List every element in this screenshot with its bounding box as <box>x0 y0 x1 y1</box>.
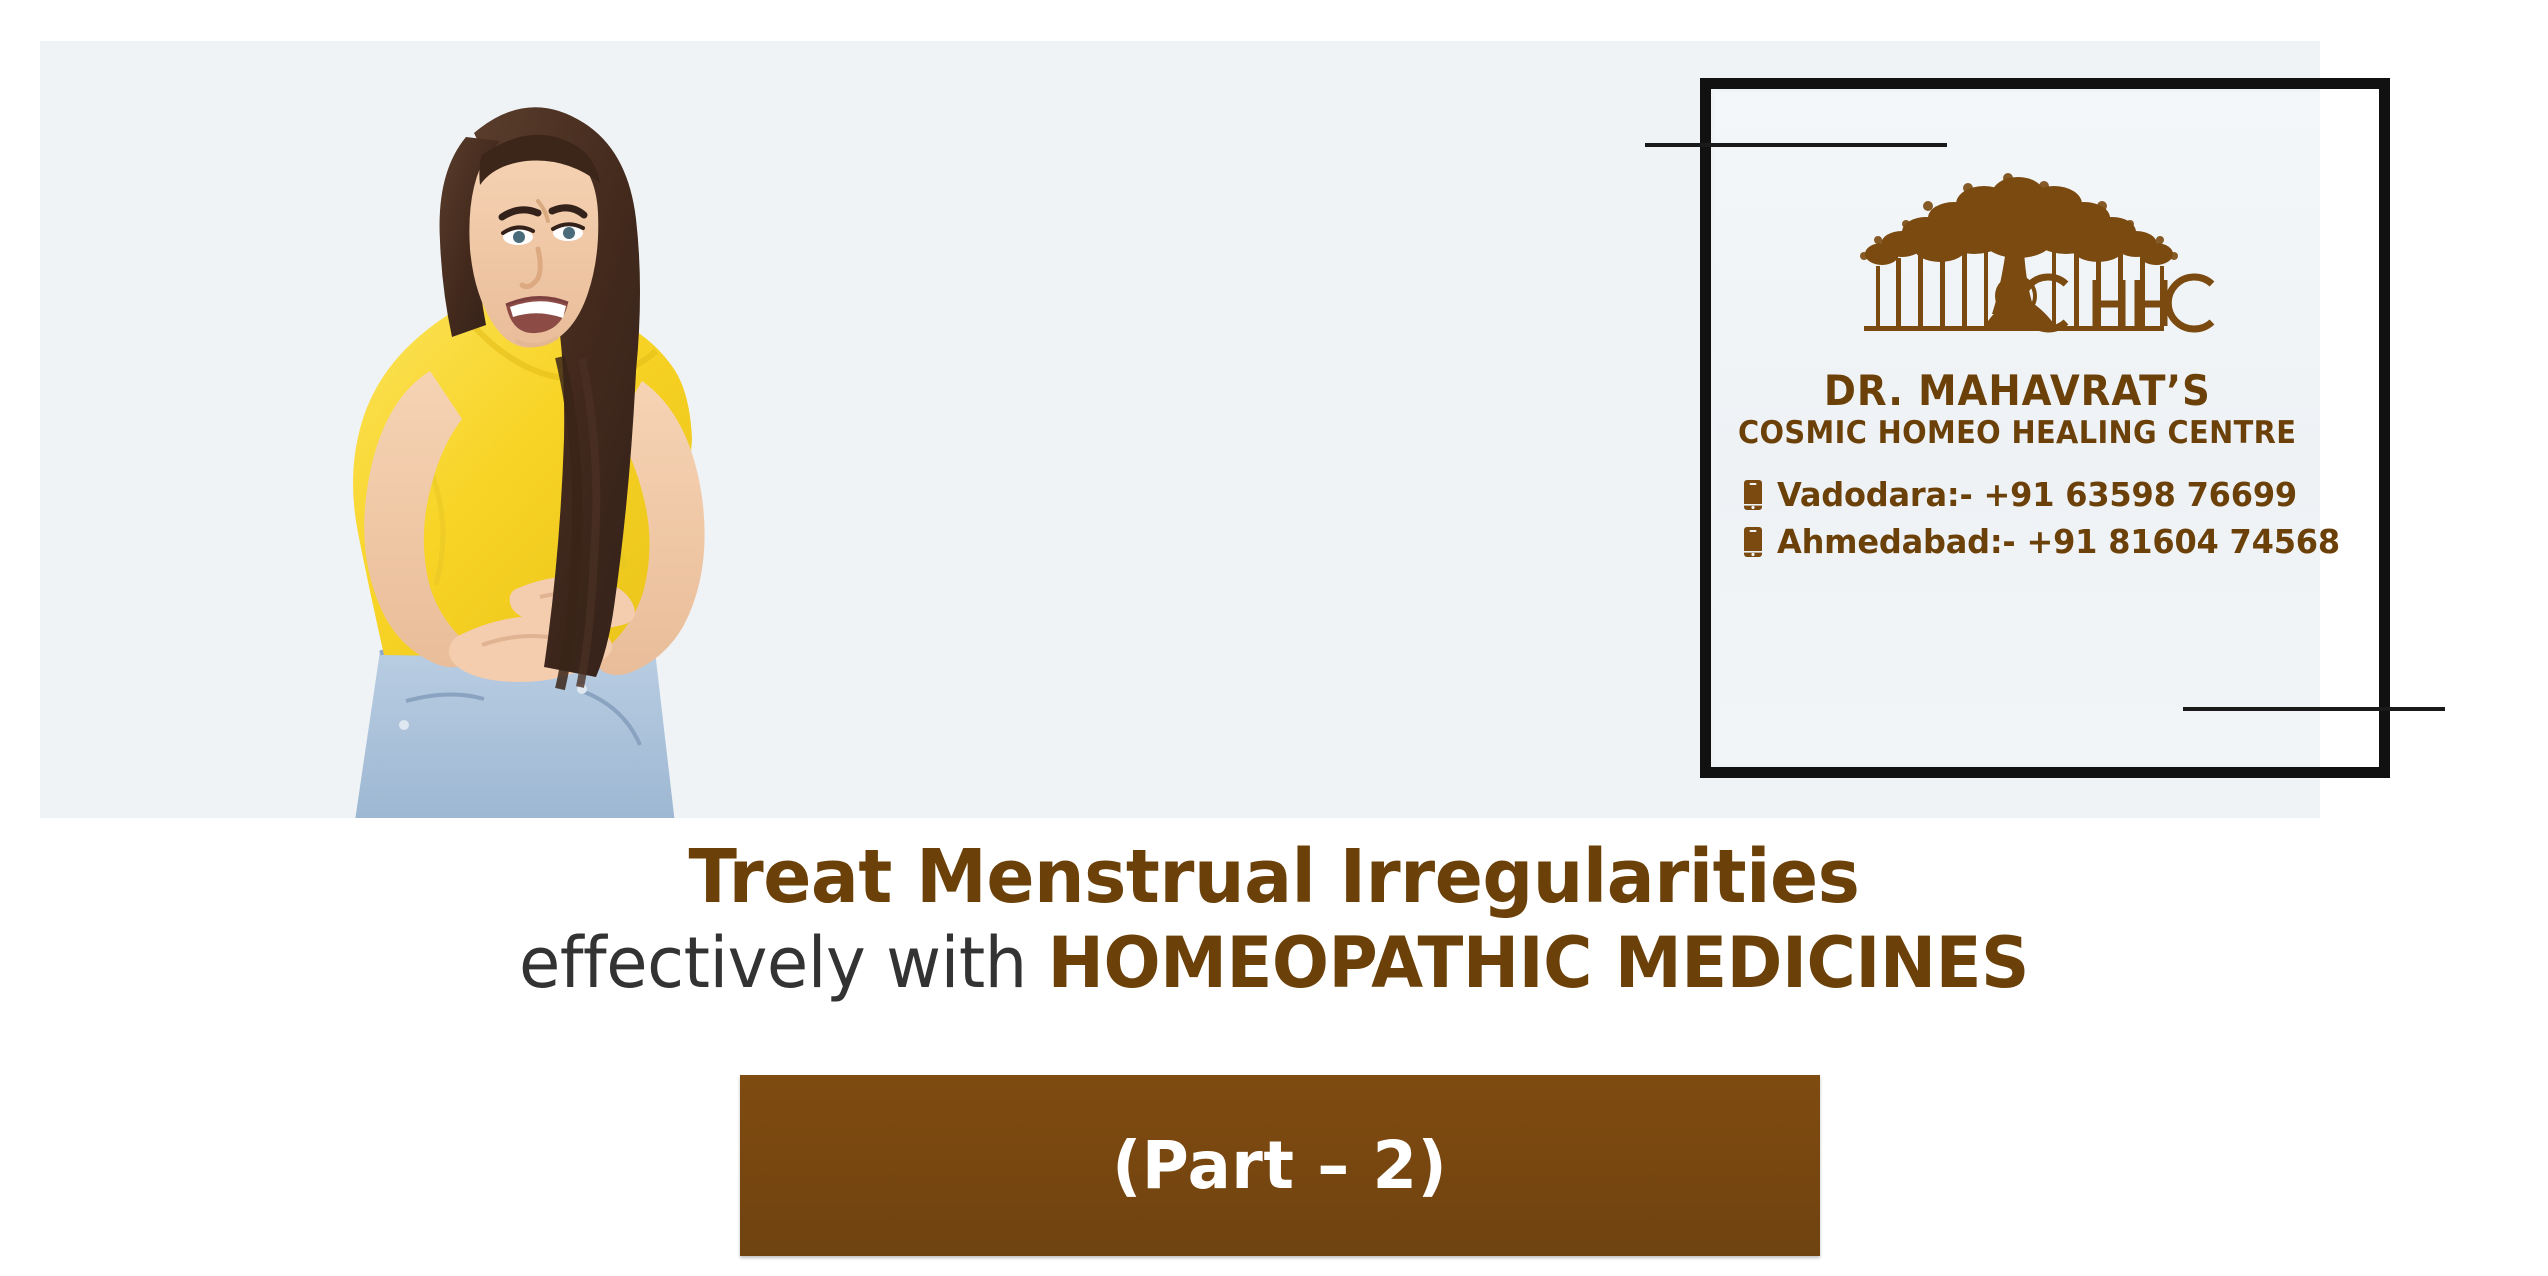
hero-photo-woman-abdominal-pain <box>230 41 800 818</box>
decorative-hairline-bottom <box>2183 707 2445 711</box>
headline-line-1: Treat Menstrual Irregularities <box>51 838 2497 916</box>
headline-line-2-light: effectively with <box>519 922 1048 1004</box>
decorative-frame-border <box>1700 78 2390 778</box>
headline-line-2-strong: HOMEOPATHIC MEDICINES <box>1048 922 2029 1004</box>
headline-block: Treat Menstrual Irregularities effective… <box>0 838 2548 1001</box>
decorative-hairline-top <box>1645 143 1947 147</box>
headline-line-2: effectively with HOMEOPATHIC MEDICINES <box>51 926 2497 1000</box>
part-number-banner: (Part – 2) <box>740 1075 1820 1256</box>
part-number-label: (Part – 2) <box>1112 1127 1447 1204</box>
